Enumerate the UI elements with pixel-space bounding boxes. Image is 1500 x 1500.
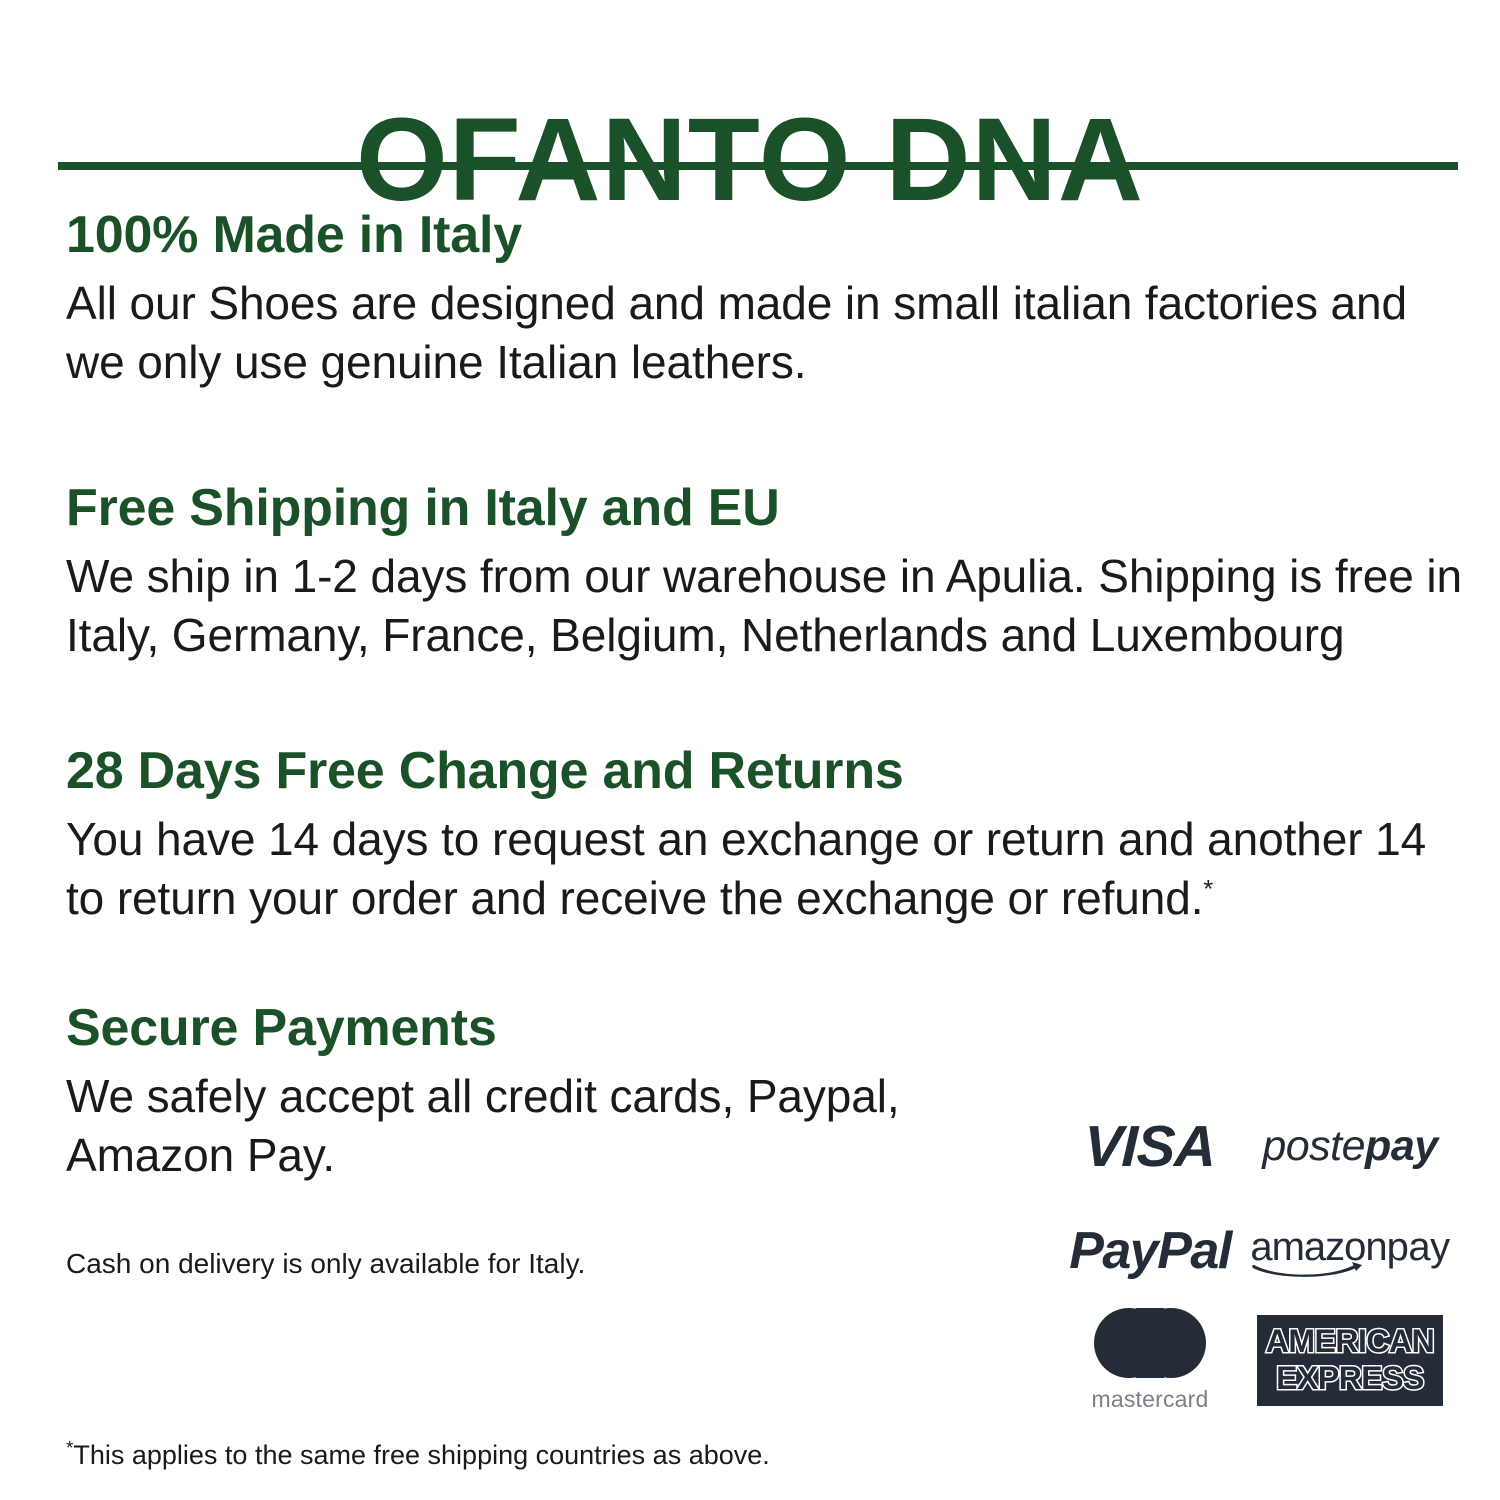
spacer-2 bbox=[66, 664, 1466, 742]
section-body-returns-text: You have 14 days to request an exchange … bbox=[66, 813, 1426, 923]
footnote-text: This applies to the same free shipping c… bbox=[73, 1440, 769, 1470]
section-made-in-italy: 100% Made in Italy All our Shoes are des… bbox=[66, 206, 1466, 391]
section-body-secure-payments: We safely accept all credit cards, Paypa… bbox=[66, 1067, 1026, 1184]
cash-on-delivery-note: Cash on delivery is only available for I… bbox=[66, 1246, 1026, 1282]
mastercard-icon: mastercard bbox=[1091, 1308, 1208, 1413]
paypal-icon: PayPal bbox=[1069, 1221, 1231, 1281]
amex-line-two: EXPRESS bbox=[1276, 1362, 1424, 1394]
postepay-label-bold: pay bbox=[1365, 1122, 1438, 1170]
postepay-label-light: poste bbox=[1262, 1122, 1365, 1170]
section-heading-made-in-italy: 100% Made in Italy bbox=[66, 206, 1466, 264]
ofanto-dna-info-panel: OFANTO DNA 100% Made in Italy All our Sh… bbox=[0, 0, 1500, 1500]
returns-footnote-marker: * bbox=[1203, 875, 1213, 903]
secure-payments-text-block: Secure Payments We safely accept all cre… bbox=[66, 999, 1026, 1282]
page-footnote: *This applies to the same free shipping … bbox=[66, 1438, 770, 1473]
section-heading-free-shipping: Free Shipping in Italy and EU bbox=[66, 479, 1466, 537]
section-body-free-shipping: We ship in 1-2 days from our warehouse i… bbox=[66, 547, 1466, 664]
amazon-pay-label-pay: pay bbox=[1387, 1225, 1450, 1269]
visa-icon: VISA bbox=[1083, 1113, 1217, 1180]
section-heading-returns: 28 Days Free Change and Returns bbox=[66, 742, 1466, 800]
payment-logo-american-express: AMERICAN EXPRESS bbox=[1245, 1300, 1455, 1420]
section-returns: 28 Days Free Change and Returns You have… bbox=[66, 742, 1466, 927]
spacer-3 bbox=[66, 927, 1466, 999]
section-heading-secure-payments: Secure Payments bbox=[66, 999, 1026, 1057]
mastercard-circles bbox=[1094, 1308, 1206, 1378]
payment-logos: VISA postepay PayPal amazonpay bbox=[1055, 1090, 1455, 1420]
amex-line-one: AMERICAN bbox=[1266, 1325, 1434, 1357]
payment-logo-mastercard: mastercard bbox=[1055, 1300, 1245, 1420]
payment-logo-visa: VISA bbox=[1055, 1090, 1245, 1202]
section-free-shipping: Free Shipping in Italy and EU We ship in… bbox=[66, 479, 1466, 664]
amazon-pay-icon: amazonpay bbox=[1250, 1227, 1449, 1275]
payment-logo-amazon-pay: amazonpay bbox=[1245, 1202, 1455, 1300]
american-express-icon: AMERICAN EXPRESS bbox=[1257, 1315, 1443, 1406]
mastercard-label: mastercard bbox=[1091, 1386, 1208, 1413]
mastercard-circle-overlap bbox=[1136, 1308, 1164, 1378]
postepay-icon: postepay bbox=[1262, 1122, 1437, 1171]
section-body-made-in-italy: All our Shoes are designed and made in s… bbox=[66, 274, 1466, 391]
spacer-1 bbox=[66, 391, 1466, 479]
payment-logo-paypal: PayPal bbox=[1055, 1202, 1245, 1300]
section-body-returns: You have 14 days to request an exchange … bbox=[66, 810, 1466, 927]
amazon-swoosh-icon bbox=[1252, 1261, 1364, 1277]
header-divider bbox=[58, 162, 1458, 170]
payment-logo-postepay: postepay bbox=[1245, 1090, 1455, 1202]
